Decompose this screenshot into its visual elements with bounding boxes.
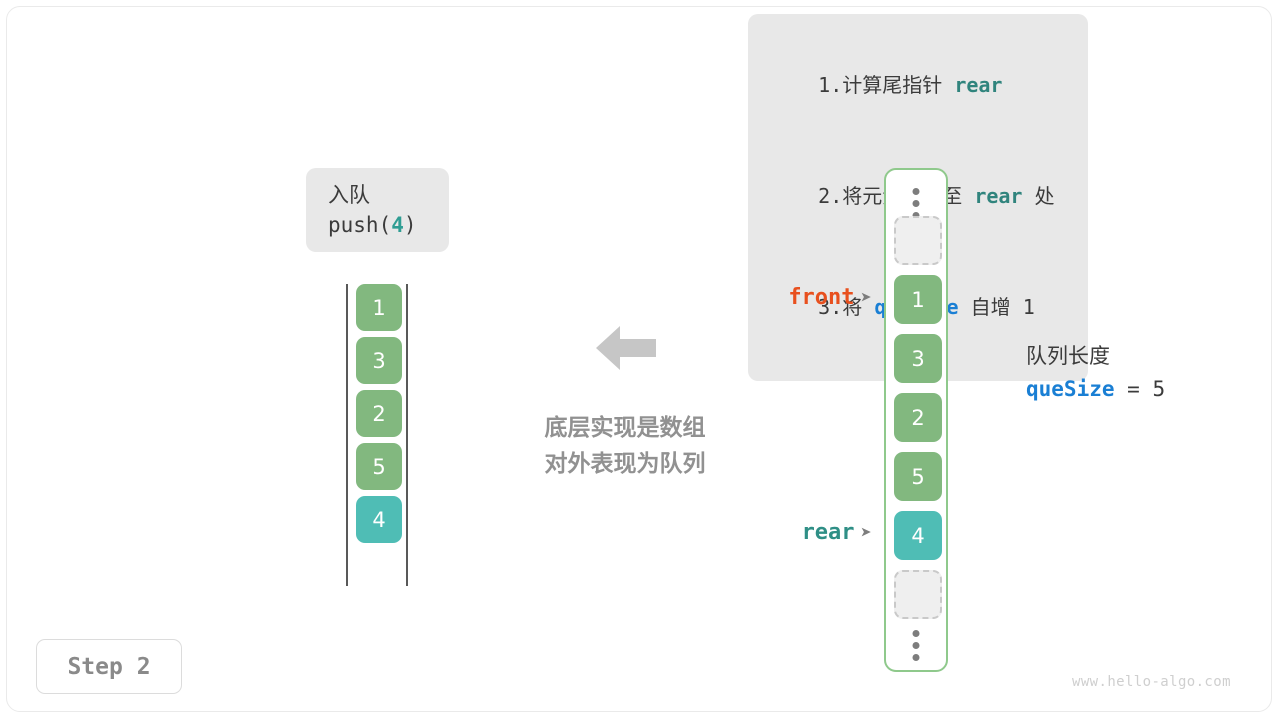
instruction-3-post: 自增 1 <box>959 295 1035 319</box>
push-call-prefix: push( <box>328 213 391 237</box>
queue-cell: 4 <box>356 496 402 543</box>
quesize-expression: queSize = 5 <box>1026 373 1165 406</box>
rear-pointer-label: rear➤ <box>700 520 872 545</box>
caption-line-2: 对外表现为队列 <box>500 446 750 482</box>
queue-rail-left <box>346 284 348 586</box>
front-pointer-label: front➤ <box>700 285 872 310</box>
center-caption: 底层实现是数组 对外表现为队列 <box>500 410 750 482</box>
front-pointer-text: front <box>788 285 854 310</box>
queue-cell: 1 <box>356 284 402 331</box>
step-badge: Step 2 <box>36 639 182 694</box>
instruction-2-index: 2. <box>818 184 842 208</box>
array-cell-value: 4 <box>911 524 924 548</box>
instruction-1-code: rear <box>954 73 1002 97</box>
array-cell-value: 2 <box>911 406 924 430</box>
push-call-suffix: ) <box>404 213 417 237</box>
instruction-2-code: rear <box>974 184 1022 208</box>
caption-line-1: 底层实现是数组 <box>500 410 750 446</box>
array-cell-value: 3 <box>911 347 924 371</box>
array-cell: 3 <box>894 334 942 383</box>
watermark-text: www.hello-algo.com <box>1072 674 1231 690</box>
array-cell: 5 <box>894 452 942 501</box>
instruction-1-index: 1. <box>818 73 842 97</box>
instruction-2-post: 处 <box>1022 184 1054 208</box>
queue-cell: 3 <box>356 337 402 384</box>
bottom-ellipsis-icon <box>913 630 920 661</box>
front-pointer-chevron-icon: ➤ <box>855 287 872 309</box>
array-cell-empty <box>894 216 942 265</box>
array-container: 13254 <box>884 168 948 672</box>
left-arrow-icon <box>594 320 658 376</box>
rear-pointer-text: rear <box>802 520 855 545</box>
array-cell-empty <box>894 570 942 619</box>
push-label-call: push(4) <box>328 210 449 240</box>
queue-cell: 2 <box>356 390 402 437</box>
queue-cell-value: 1 <box>372 296 385 320</box>
array-cell-value: 1 <box>911 288 924 312</box>
push-operation-label: 入队 push(4) <box>306 168 449 252</box>
quesize-annotation: 队列长度 queSize = 5 <box>1026 340 1165 406</box>
instruction-1-text: 计算尾指针 <box>842 73 954 97</box>
push-label-title: 入队 <box>328 180 449 210</box>
push-call-value: 4 <box>391 213 404 237</box>
queue-cell: 5 <box>356 443 402 490</box>
rear-pointer-chevron-icon: ➤ <box>855 522 872 544</box>
queue-abstract-view: 13254 <box>340 284 416 586</box>
quesize-title: 队列长度 <box>1026 340 1165 373</box>
top-ellipsis-icon <box>913 188 920 219</box>
step-badge-label: Step 2 <box>67 654 150 680</box>
instruction-line-1: 1.计算尾指针 rear <box>748 30 1088 141</box>
quesize-var-name: queSize <box>1026 377 1115 401</box>
queue-rail-right <box>406 284 408 586</box>
watermark: www.hello-algo.com <box>1072 674 1231 690</box>
array-cell: 1 <box>894 275 942 324</box>
quesize-value: 5 <box>1152 377 1165 401</box>
array-cell-value: 5 <box>911 465 924 489</box>
queue-cell-value: 2 <box>372 402 385 426</box>
queue-cell-value: 3 <box>372 349 385 373</box>
array-cell: 4 <box>894 511 942 560</box>
queue-cell-value: 5 <box>372 455 385 479</box>
array-cell: 2 <box>894 393 942 442</box>
queue-cell-value: 4 <box>372 508 385 532</box>
quesize-operator: = <box>1115 377 1153 401</box>
